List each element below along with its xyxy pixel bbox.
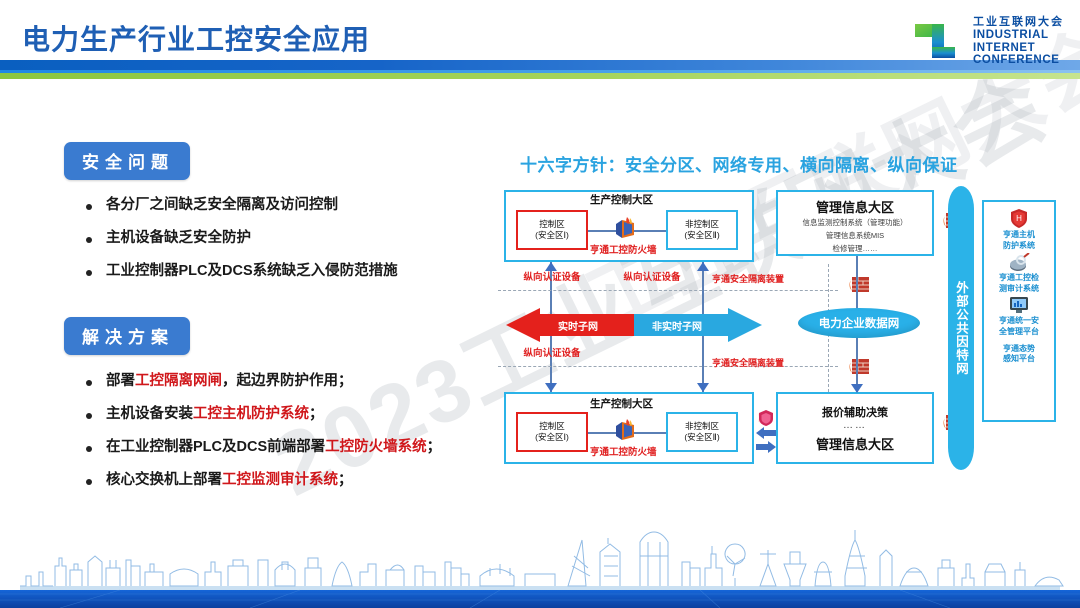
control-area-box-top: 控制区 (安全区Ⅰ) [516, 210, 588, 250]
product-item-host-protection[interactable]: H 亨通主机 防护系统 [986, 208, 1052, 250]
text-plain-tail: ； [309, 406, 324, 422]
text-plain-tail: ； [427, 439, 442, 455]
noncontrol-area-line2-top: (安全区Ⅱ) [684, 230, 719, 241]
bullet-dot-icon [86, 237, 92, 243]
product-item-unified-platform[interactable]: 亨通统一安 全管理平台 [986, 296, 1052, 336]
solution-bullet-3: 核心交换机上部署工控监测审计系统； [86, 471, 441, 490]
product-name-line1-1: 亨通工控检 [999, 273, 1039, 283]
firewall-icon-bottom [614, 419, 640, 441]
zone-label-production-bottom: 生产控制大区 [590, 396, 653, 411]
text-plain-lead: 主机设备安装 [106, 406, 193, 422]
text-plain-lead: 部署 [106, 373, 135, 389]
product-name-line1-0: 亨通主机 [1003, 230, 1035, 240]
product-name-line2-3: 感知平台 [1003, 354, 1035, 364]
management-zone-title-bottom: 管理信息大区 [816, 434, 894, 453]
product-list-panel: H 亨通主机 防护系统 亨通工控检 测审计系统 [982, 200, 1056, 422]
arrow-down-data-network [851, 384, 863, 393]
badge-solution: 解决方案 [64, 317, 190, 355]
solution-bullet-2: 在工业控制器PLC及DCS前端部署工控防火墙系统； [86, 438, 441, 457]
problem-bullet-1: 主机设备缺乏安全防护 [86, 229, 398, 248]
bullet-dot-icon [86, 380, 92, 386]
text-plain-tail: ，起边界防护作用； [222, 373, 353, 389]
firewall-label-top: 亨通工控防火墙 [590, 242, 657, 256]
zone-label-production-top: 生产控制大区 [590, 192, 653, 207]
control-area-line1-top: 控制区 [539, 219, 565, 230]
vertical-auth-text-3: 纵向认证设备 [523, 348, 580, 359]
text-plain-lead: 主机设备缺乏安全防护 [106, 230, 251, 246]
firewall-label-bottom: 亨通工控防火墙 [590, 444, 657, 458]
logo-chinese-text: 工业互联网大会 [973, 17, 1064, 29]
control-area-line1-bottom: 控制区 [539, 421, 565, 432]
text-plain-lead: 在工业控制器PLC及DCS前端部署 [106, 439, 325, 455]
arrow-down-right [697, 383, 709, 392]
band-label-nonrealtime: 非实时子网 [652, 318, 702, 333]
vertical-auth-label-2: 纵向认证设备 [622, 272, 682, 283]
header-green-bar [0, 73, 1080, 79]
badge-security-problem: 安全问题 [64, 142, 190, 180]
logo-line-internet: INTERNET [973, 42, 1064, 54]
text-highlight: 工控监测审计系统 [222, 472, 338, 488]
problem-bullet-text-0: 各分厂之间缺乏安全隔离及访问控制 [106, 196, 338, 215]
magnifier-icon [1008, 253, 1030, 272]
shield-icon: H [1009, 208, 1029, 229]
brick-icon-isolation-top [848, 276, 870, 293]
brick-icon-isolation-bottom [848, 358, 870, 375]
bullet-dot-icon [86, 204, 92, 210]
external-internet-strip: 外部公共因特网 [948, 186, 974, 470]
noncontrol-area-line1-top: 非控制区 [685, 219, 719, 230]
logo-line-conference: CONFERENCE [973, 54, 1064, 66]
slide-root: 2023工业互联网大会 工业互联网大会 电力生产行业工控安全应用 [0, 0, 1080, 608]
product-name-line1-3: 亨通态势 [1003, 344, 1035, 354]
solution-bullet-1: 主机设备安装工控主机防护系统； [86, 405, 441, 424]
solution-bullet-text-1: 主机设备安装工控主机防护系统； [106, 405, 324, 424]
text-plain-lead: 各分厂之间缺乏安全隔离及访问控制 [106, 197, 338, 213]
subnet-band-arrows: 实时子网 非实时子网 [506, 308, 762, 342]
noncontrol-area-box-top: 非控制区 (安全区Ⅱ) [666, 210, 738, 250]
product-item-situation-awareness[interactable]: 亨通态势 感知平台 [986, 343, 1052, 364]
solution-bullet-list: 部署工控隔离网闸，起边界防护作用；主机设备安装工控主机防护系统；在工业控制器PL… [86, 372, 441, 503]
dashed-separator-lower [498, 366, 838, 367]
external-internet-label: 外部公共因特网 [954, 281, 968, 376]
bullet-dot-icon [86, 446, 92, 452]
band-label-realtime: 实时子网 [558, 318, 598, 333]
text-highlight: 工控防火墙系统 [325, 439, 427, 455]
solution-bullet-text-2: 在工业控制器PLC及DCS前端部署工控防火墙系统； [106, 438, 441, 457]
product-item-audit[interactable]: 亨通工控检 测审计系统 [986, 253, 1052, 293]
text-plain-lead: 工业控制器PLC及DCS系统缺乏入侵防范措施 [106, 263, 398, 279]
problem-bullet-list: 各分厂之间缺乏安全隔离及访问控制主机设备缺乏安全防护工业控制器PLC及DCS系统… [86, 196, 398, 295]
firewall-icon-top [614, 217, 640, 239]
text-plain-lead: 核心交换机上部署 [106, 472, 222, 488]
problem-bullet-2: 工业控制器PLC及DCS系统缺乏入侵防范措施 [86, 262, 398, 281]
data-network-ellipse: 电力企业数据网 [798, 308, 920, 338]
problem-bullet-text-2: 工业控制器PLC及DCS系统缺乏入侵防范措施 [106, 262, 398, 281]
solution-bullet-text-3: 核心交换机上部署工控监测审计系统； [106, 471, 353, 490]
noncontrol-area-line1-bottom: 非控制区 [685, 421, 719, 432]
vertical-auth-label-1: 纵向认证设备 [522, 272, 582, 283]
text-highlight: 工控主机防护系统 [193, 406, 309, 422]
bullet-dot-icon [86, 413, 92, 419]
logo-mark-icon [912, 16, 964, 68]
noncontrol-area-box-bottom: 非控制区 (安全区Ⅱ) [666, 412, 738, 452]
product-name-line1-2: 亨通统一安 [999, 316, 1039, 326]
data-network-label: 电力企业数据网 [819, 315, 900, 331]
management-zone-box-top: 管理信息大区 信息监测控制系统（管理功能） 管理信息系统MIS 检修管理…… [776, 190, 934, 256]
dashed-separator-upper [498, 290, 838, 291]
monitor-icon [1008, 296, 1030, 315]
management-zone-title-top: 管理信息大区 [778, 197, 932, 216]
solution-bullet-text-0: 部署工控隔离网闸，起边界防护作用； [106, 372, 353, 391]
page-title: 电力生产行业工控安全应用 [22, 18, 370, 58]
management-zone-sub3: 检修管理…… [778, 244, 932, 255]
conference-logo: 工业互联网大会 INDUSTRIAL INTERNET CONFERENCE [912, 16, 1064, 68]
problem-bullet-0: 各分厂之间缺乏安全隔离及访问控制 [86, 196, 398, 215]
architecture-diagram: 生产控制大区 控制区 (安全区Ⅰ) 非控制区 (安全区Ⅱ) 亨通工控防火墙 管理… [498, 180, 1068, 485]
problem-bullet-text-1: 主机设备缺乏安全防护 [106, 229, 251, 248]
logo-line-industrial: INDUSTRIAL [973, 29, 1064, 41]
control-area-line2-bottom: (安全区Ⅰ) [535, 432, 569, 443]
bid-decision-dots: …… [843, 420, 867, 431]
bid-decision-label: 报价辅助决策 [822, 404, 888, 420]
bullet-dot-icon [86, 270, 92, 276]
footer-skyline [0, 516, 1080, 608]
management-zone-sub2: 管理信息系统MIS [778, 231, 932, 242]
product-name-line2-0: 防护系统 [1003, 241, 1035, 251]
solution-bullet-0: 部署工控隔离网闸，起边界防护作用； [86, 372, 441, 391]
noncontrol-area-line2-bottom: (安全区Ⅱ) [684, 432, 719, 443]
bullet-dot-icon [86, 479, 92, 485]
management-zone-sub1: 信息监测控制系统（管理功能） [778, 218, 932, 229]
arrow-up-right [697, 262, 709, 271]
arrow-right-into-mgmt-bottom [756, 440, 776, 458]
svg-text:H: H [1016, 214, 1022, 223]
control-area-box-bottom: 控制区 (安全区Ⅰ) [516, 412, 588, 452]
control-area-line2-top: (安全区Ⅰ) [535, 230, 569, 241]
diagram-title: 十六字方针：安全分区、网络专用、横向隔离、纵向保证 [520, 151, 958, 176]
text-highlight: 工控隔离网闸 [135, 373, 222, 389]
product-name-line2-2: 全管理平台 [999, 327, 1039, 337]
isolation-label-top: 亨通安全隔离装置 [712, 272, 784, 285]
isolation-label-bottom: 亨通安全隔离装置 [712, 356, 784, 369]
product-name-line2-1: 测审计系统 [999, 284, 1039, 294]
vertical-auth-text-1: 纵向认证设备 [523, 272, 580, 283]
text-plain-tail: ； [338, 472, 353, 488]
management-zone-box-bottom: 报价辅助决策 …… 管理信息大区 [776, 392, 934, 464]
arrow-up-left [545, 262, 557, 271]
vertical-auth-text-2: 纵向认证设备 [623, 272, 680, 283]
arrow-down-left [545, 383, 557, 392]
vertical-auth-label-3: 纵向认证设备 [522, 348, 582, 359]
